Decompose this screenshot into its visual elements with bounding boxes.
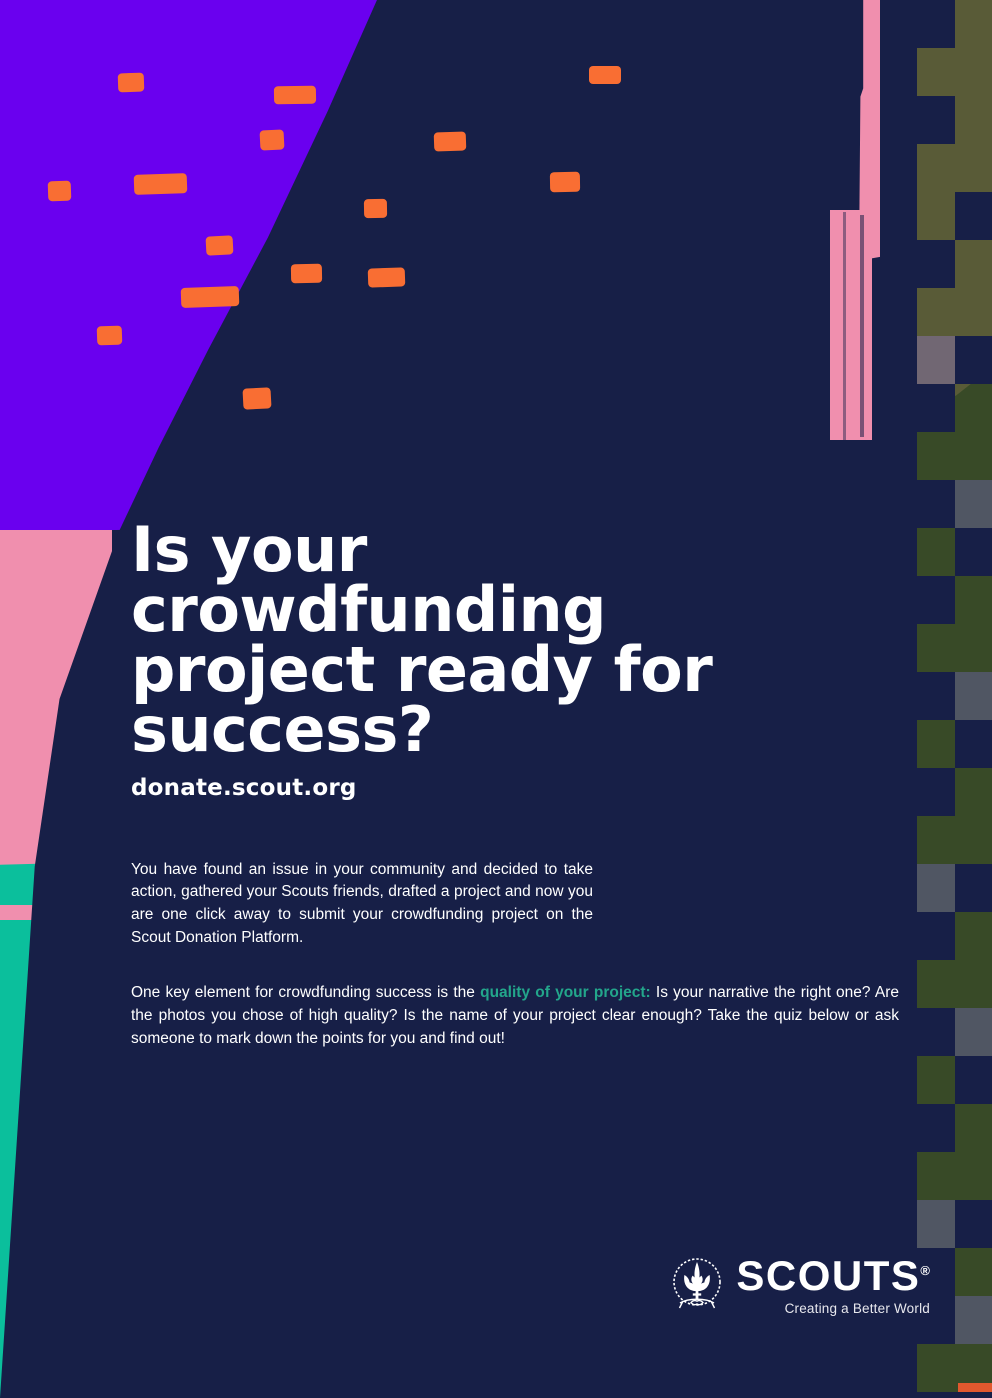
logo-tagline: Creating a Better World <box>785 1301 930 1316</box>
checker-cell <box>880 1392 917 1398</box>
checker-cell <box>955 480 992 528</box>
checker-cell <box>955 1200 992 1248</box>
checker-cell <box>880 0 917 48</box>
checker-cell <box>955 624 992 672</box>
checker-cell <box>917 336 954 384</box>
left-teal-band-lower <box>0 920 100 1398</box>
checker-cell <box>880 96 917 144</box>
checker-cell <box>917 144 954 192</box>
checker-cell <box>917 1344 954 1392</box>
checker-cell <box>955 1008 992 1056</box>
registered-trademark-icon: ® <box>920 1263 930 1278</box>
orange-dash <box>368 267 406 287</box>
checker-cell <box>917 480 954 528</box>
pink-brush-gap-b <box>843 212 846 440</box>
checker-cell <box>917 1104 954 1152</box>
orange-dash <box>589 66 621 84</box>
checker-cell <box>880 144 917 192</box>
checker-cell <box>955 816 992 864</box>
checker-cell <box>955 576 992 624</box>
orange-dash <box>181 286 240 308</box>
orange-dash <box>274 86 316 105</box>
checker-cell <box>955 1296 992 1344</box>
orange-dash <box>134 173 188 195</box>
checker-cell <box>917 1392 954 1398</box>
checker-cell <box>917 192 954 240</box>
orange-dash <box>291 264 322 284</box>
left-teal-band-upper <box>0 862 104 908</box>
orange-dash <box>97 326 123 346</box>
logo-wordmark: SCOUTS® <box>736 1255 930 1297</box>
checker-cell <box>880 432 917 480</box>
orange-dash <box>48 181 72 202</box>
checker-cell <box>917 672 954 720</box>
orange-dash <box>259 129 284 150</box>
checker-cell <box>955 1056 992 1104</box>
checker-cell <box>880 240 917 288</box>
quality-paragraph: One key element for crowdfunding success… <box>131 982 899 1051</box>
checker-cell <box>917 1152 954 1200</box>
checker-cell <box>955 864 992 912</box>
checker-cell <box>955 1248 992 1296</box>
poster-content: Is your crowdfunding project ready for s… <box>131 520 901 1051</box>
pink-brush-strip <box>830 210 872 440</box>
logo-wordmark-text: SCOUTS <box>736 1252 920 1299</box>
checker-cell <box>917 960 954 1008</box>
checker-cell <box>955 0 992 48</box>
site-url: donate.scout.org <box>131 775 901 801</box>
checker-cell <box>955 768 992 816</box>
checker-cell <box>955 528 992 576</box>
checker-cell <box>880 1344 917 1392</box>
checker-cell <box>917 816 954 864</box>
orange-dash <box>242 387 271 409</box>
checker-cell <box>917 1056 954 1104</box>
checker-cell <box>955 336 992 384</box>
checker-cell <box>917 384 954 432</box>
checker-cell <box>917 288 954 336</box>
checker-cell <box>917 912 954 960</box>
checker-cell <box>955 384 992 432</box>
checker-cell <box>955 1344 992 1392</box>
checker-cell <box>917 432 954 480</box>
pink-brush-stroke <box>852 0 992 400</box>
checker-cell <box>955 1392 992 1398</box>
checker-cell <box>955 144 992 192</box>
checker-cell <box>955 192 992 240</box>
checker-cell <box>917 0 954 48</box>
checker-cell <box>955 960 992 1008</box>
pink-brush-gap-a <box>860 215 864 437</box>
checker-cell <box>917 48 954 96</box>
checker-cell <box>880 1104 917 1152</box>
checker-cell <box>917 1008 954 1056</box>
checker-cell <box>955 288 992 336</box>
checker-cell <box>955 720 992 768</box>
checker-cell <box>917 768 954 816</box>
quality-highlight: quality of your project: <box>480 984 651 1001</box>
orange-dash <box>550 172 580 193</box>
checker-cell <box>955 240 992 288</box>
checker-cell <box>955 1152 992 1200</box>
checker-cell <box>955 432 992 480</box>
checker-cell <box>917 240 954 288</box>
orange-dash <box>364 199 387 218</box>
corner-orange-nub <box>958 1383 992 1392</box>
left-pink-stripe <box>0 905 104 923</box>
logo-text-block: SCOUTS® Creating a Better World <box>736 1255 930 1316</box>
checker-cell <box>917 720 954 768</box>
checker-cell <box>955 672 992 720</box>
page-title: Is your crowdfunding project ready for s… <box>131 520 841 761</box>
checker-cell <box>880 336 917 384</box>
checker-cell <box>880 48 917 96</box>
checker-cell <box>917 528 954 576</box>
checker-cell <box>880 384 917 432</box>
checker-cell <box>917 576 954 624</box>
checker-cell <box>917 1200 954 1248</box>
left-purple-band <box>0 0 120 500</box>
checker-cell <box>955 96 992 144</box>
poster-canvas: Is your crowdfunding project ready for s… <box>0 0 992 1398</box>
orange-dash <box>118 73 145 93</box>
checker-cell <box>880 1200 917 1248</box>
left-pink-band <box>0 470 112 870</box>
world-scout-emblem-icon <box>670 1256 724 1316</box>
checker-cell <box>955 912 992 960</box>
checker-cell <box>880 1152 917 1200</box>
orange-dash <box>206 235 234 255</box>
scouts-logo: SCOUTS® Creating a Better World <box>670 1255 930 1316</box>
checker-cell <box>955 48 992 96</box>
intro-paragraph: You have found an issue in your communit… <box>131 859 593 951</box>
orange-dash <box>434 131 467 151</box>
purple-blob-shape <box>0 0 480 530</box>
checker-cell <box>955 1104 992 1152</box>
quality-paragraph-lead: One key element for crowdfunding success… <box>131 984 480 1001</box>
checker-cell <box>880 1056 917 1104</box>
checker-cell <box>917 864 954 912</box>
checker-cell <box>917 624 954 672</box>
checker-cell <box>917 96 954 144</box>
checker-cell <box>880 288 917 336</box>
checker-cell <box>880 192 917 240</box>
